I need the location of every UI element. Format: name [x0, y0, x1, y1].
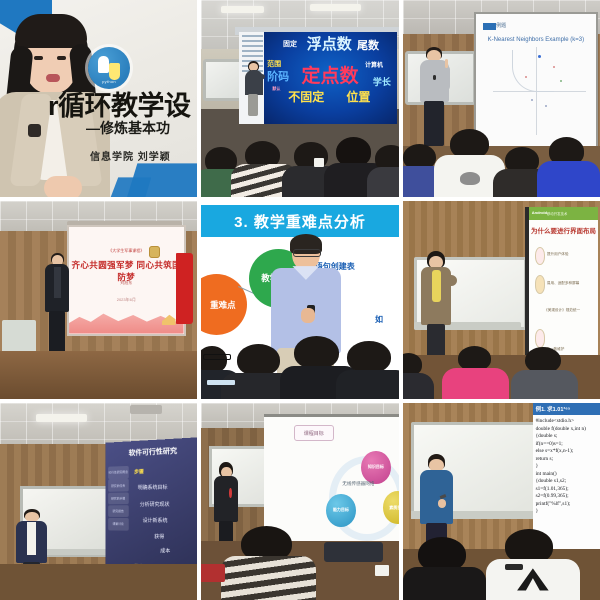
ceiling-lamp-icon — [36, 414, 87, 422]
teacher-figure — [243, 61, 265, 116]
slide-date: 2023年6月 — [69, 297, 183, 303]
projection-screen: 《大学生军事课程》 齐心共圆强军梦 同心共筑国防梦 刘旭东 2023年6月 — [67, 225, 185, 336]
slide-bullet-icon — [493, 23, 496, 30]
national-flag — [176, 253, 194, 324]
wordcloud-term: 浮点数 — [307, 37, 352, 52]
collage-cell-knn-lecture[interactable]: 例题 K-Nearest Neighbors Example (k=3) — [403, 0, 600, 197]
ring-center-label: 无线传感器网络 — [342, 481, 374, 487]
bullet-label: 提升用户体验 — [547, 252, 569, 257]
glasses-icon — [203, 354, 231, 359]
collage-cell-wordcloud-lecture[interactable]: 固定浮点数尾数范围阶码定点数计算机默认不固定位置学长 — [201, 0, 398, 197]
bullet-label: 《美观设计》规范统一 — [544, 308, 580, 313]
floor — [0, 564, 197, 600]
python-logo-icon: python — [88, 47, 130, 89]
decorative-corner-shape-bottom-right — [123, 163, 197, 197]
chart-point — [545, 105, 547, 107]
chart-point — [525, 76, 527, 78]
slide-tag: 课程目标 — [294, 425, 334, 441]
bullet-label: 易用、适配多种屏幕 — [547, 281, 579, 286]
audience-row — [201, 332, 398, 399]
wordcloud-slide: 固定浮点数尾数范围阶码定点数计算机默认不固定位置学长 — [264, 32, 396, 125]
wordcloud-term: 位置 — [346, 91, 370, 103]
code-block: #include<stdio.h> double f(double x,int … — [536, 418, 600, 516]
slide-bullet: 步骤 — [134, 469, 144, 476]
slide-nav-item: 研究的任务 — [108, 479, 128, 492]
slide-kicker: 《大学生军事课程》 — [69, 248, 183, 254]
slide-header-bar: Android 移动开发技术 — [529, 207, 598, 220]
slide-nav-item: 研究报告 — [108, 505, 128, 517]
audience-row — [201, 509, 398, 600]
goal-bubble: 知识目标 — [361, 451, 391, 484]
paper-cup-icon — [314, 158, 324, 167]
slide-nav-item: 研究的步骤 — [108, 492, 128, 504]
lapel-badge-icon — [28, 124, 41, 137]
collage-cell-military-lecture[interactable]: 《大学生军事课程》 齐心共圆强军梦 同心共筑国防梦 刘旭东 2023年6月 — [0, 201, 197, 398]
slide-brand-sub-label: 移动开发技术 — [547, 211, 567, 216]
badge-icon — [229, 488, 232, 497]
wordcloud-term: 范围 — [267, 61, 281, 68]
audience-row — [403, 336, 600, 399]
slide-title: 为什么要进行界面布局 — [529, 225, 598, 235]
glasses-icon — [293, 249, 320, 257]
bullet-icon — [535, 247, 546, 265]
collage-cell-code-lecture[interactable]: 例1. 求1.01³⁶⁵ #include<stdio.h> double f(… — [403, 403, 600, 600]
collage-cell-android-lecture[interactable]: Android 移动开发技术 为什么要进行界面布局 提升用户体验 易用、适配多种… — [403, 201, 600, 398]
slide-bullet: 成本 — [160, 547, 170, 554]
slide-header: 例1. 求1.01³⁶⁵ — [533, 403, 600, 415]
bubble-difficult-points: 重难点 — [201, 274, 246, 335]
wordcloud-term: 默认 — [272, 87, 280, 91]
poster-byline: 信息学院 刘学颖 — [90, 148, 171, 163]
slide-bullet: 分析研究现状 — [139, 501, 169, 508]
floor — [0, 351, 197, 398]
whiteboard — [203, 59, 243, 101]
chart-point — [531, 99, 533, 101]
photo-collage-grid: python r循环教学设 —修炼基本功 信息学院 刘学颖 固定浮点数尾数范围阶… — [0, 0, 600, 600]
wordcloud-term: 不固定 — [288, 91, 324, 103]
chart-point — [560, 80, 562, 82]
audience-row — [201, 118, 398, 197]
bullet-icon — [535, 275, 546, 293]
collage-cell-python-poster[interactable]: python r循环教学设 —修炼基本功 信息学院 刘学颖 — [0, 0, 197, 197]
wordcloud-term: 计算机 — [365, 63, 383, 69]
slide-eyebrow: 例题 — [496, 22, 506, 29]
chair-back — [324, 542, 383, 562]
collage-cell-teaching-points-slide[interactable]: 3. 教学重难点分析 重难点 教学重点 L语句创建表 如 算机与信息 — [201, 201, 398, 398]
annotation-right: 如 — [375, 314, 383, 325]
microphone-icon — [433, 75, 436, 80]
slide-nav-item: 可行性研究概念 — [108, 466, 128, 479]
ceiling-lamp-icon — [310, 4, 361, 11]
audience-row — [403, 521, 600, 600]
slide-title: K-Nearest Neighbors Example (k=3) — [476, 37, 596, 43]
slide-bullet: 获得 — [154, 533, 164, 540]
tshirt-number-icon — [505, 564, 523, 570]
tshirt-graphic-icon — [460, 172, 480, 185]
slide-bullet-icon — [483, 23, 493, 30]
wordcloud-term: 定点数 — [301, 67, 358, 86]
chart-point — [553, 66, 555, 68]
audience-row — [403, 118, 600, 197]
slide-nav-list: 可行性研究概念 研究的任务 研究的步骤 研究报告 课堂讨论 — [108, 466, 128, 568]
wordcloud-term: 学长 — [373, 78, 391, 87]
paper-cup-icon — [375, 565, 389, 576]
notebook-icon — [207, 380, 235, 385]
wordcloud-term: 阶码 — [267, 72, 289, 83]
slide-nav-item: 课堂讨论 — [108, 518, 128, 530]
collage-cell-feasibility-lecture[interactable]: 软件可行性研究 可行性研究概念 研究的任务 研究的步骤 研究报告 课堂讨论 步骤… — [0, 403, 197, 600]
slide-bullet: 明确系统目标 — [137, 484, 167, 492]
slide-presenter: 刘旭东 — [69, 280, 183, 286]
slide-header-title: 3. 教学重难点分析 — [234, 211, 366, 232]
bubble-difficult-points-label: 重难点 — [201, 299, 235, 311]
wordcloud-term: 固定 — [283, 41, 297, 48]
chart-curve — [512, 50, 554, 92]
collage-cell-course-goals-lecture[interactable]: 课程目标 知识目标 能力目标 素质目标 无线传感器网络 — [201, 403, 398, 600]
chair-back — [201, 564, 225, 582]
slide-brand-label: Android — [532, 210, 547, 215]
ceiling-lamp-icon — [221, 6, 264, 13]
wordcloud-term: 尾数 — [357, 41, 379, 52]
poster-subtitle: —修炼基本功 — [86, 118, 170, 138]
slide-header-bar: 3. 教学重难点分析 — [201, 205, 398, 237]
slide-bullet: 设计新系统 — [142, 517, 167, 524]
air-vent-icon — [130, 405, 162, 415]
slide-title: 软件可行性研究 — [105, 445, 197, 460]
